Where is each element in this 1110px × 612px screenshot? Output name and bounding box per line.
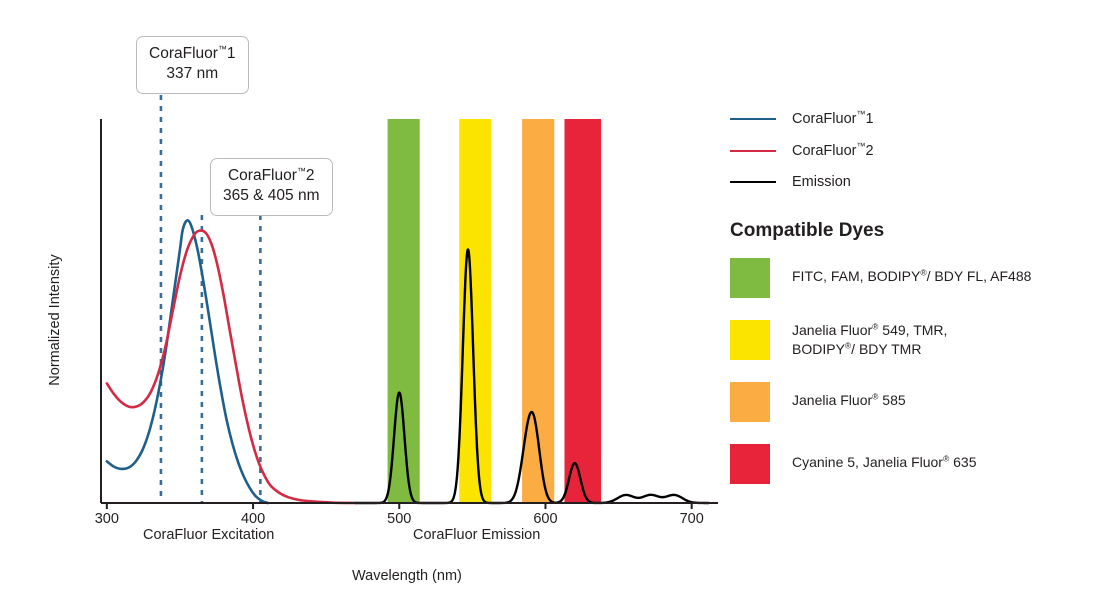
legend-line-swatch — [730, 181, 776, 183]
callout1-title: CoraFluor™1 — [149, 44, 236, 64]
legend-label: CoraFluor™2 — [792, 142, 874, 161]
curve-excitation-2 — [107, 231, 356, 503]
x-tick-label-400: 400 — [226, 511, 280, 527]
legend-label: Emission — [792, 173, 851, 192]
legend-line-swatch — [730, 150, 776, 152]
legend-series-list: CoraFluor™1CoraFluor™2Emission — [730, 110, 1100, 192]
compatible-dyes-title: Compatible Dyes — [730, 220, 1100, 242]
dye-band-layer — [388, 119, 601, 503]
dye-row-2: Janelia Fluor® 549, TMR,BODIPY®/ BDY TMR — [730, 320, 1100, 360]
section-label-emission: CoraFluor Emission — [413, 527, 540, 543]
dye-color-swatch — [730, 382, 770, 422]
curve-excitation-1 — [107, 220, 268, 503]
legend-row-3: Emission — [730, 173, 1100, 192]
compatible-dyes-list: FITC, FAM, BODIPY®/ BDY FL, AF488Janelia… — [730, 258, 1100, 484]
dye-color-swatch — [730, 320, 770, 360]
x-tick-label-700: 700 — [665, 511, 719, 527]
dye-label: FITC, FAM, BODIPY®/ BDY FL, AF488 — [792, 258, 1031, 286]
x-tick-label-600: 600 — [518, 511, 572, 527]
dye-color-swatch — [730, 444, 770, 484]
section-label-excitation: CoraFluor Excitation — [143, 527, 274, 543]
legend-line-swatch — [730, 118, 776, 120]
dye-color-swatch — [730, 258, 770, 298]
callout-corafluor1: CoraFluor™1 337 nm — [136, 36, 249, 94]
x-tick-label-300: 300 — [80, 511, 134, 527]
legend-row-1: CoraFluor™1 — [730, 110, 1100, 129]
dye-label: Cyanine 5, Janelia Fluor® 635 — [792, 444, 977, 472]
legend-row-2: CoraFluor™2 — [730, 142, 1100, 161]
x-axis-label: Wavelength (nm) — [352, 568, 462, 584]
dye-band-red — [564, 119, 601, 503]
dye-row-3: Janelia Fluor® 585 — [730, 382, 1100, 422]
y-axis-label: Normalized Intensity — [47, 235, 63, 405]
x-tick-label-500: 500 — [372, 511, 426, 527]
dye-label: Janelia Fluor® 549, TMR,BODIPY®/ BDY TMR — [792, 320, 947, 360]
callout1-value: 337 nm — [149, 64, 236, 84]
dye-row-1: FITC, FAM, BODIPY®/ BDY FL, AF488 — [730, 258, 1100, 298]
dye-row-4: Cyanine 5, Janelia Fluor® 635 — [730, 444, 1100, 484]
dye-label: Janelia Fluor® 585 — [792, 382, 906, 410]
legend: CoraFluor™1CoraFluor™2Emission Compatibl… — [730, 110, 1100, 506]
callout2-title: CoraFluor™2 — [223, 166, 320, 186]
callout2-value: 365 & 405 nm — [223, 186, 320, 206]
callout-corafluor2: CoraFluor™2 365 & 405 nm — [210, 158, 333, 216]
legend-label: CoraFluor™1 — [792, 110, 874, 129]
